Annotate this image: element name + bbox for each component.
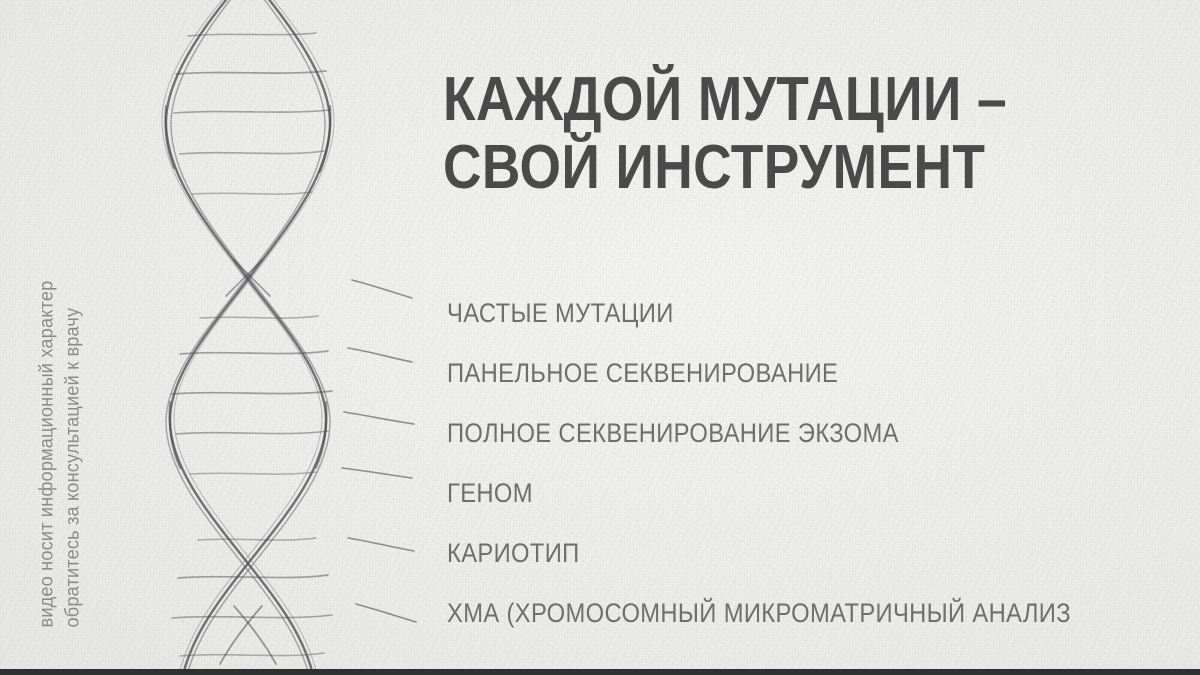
disclaimer-line-1: видео носит информационный характер (34, 281, 60, 628)
disclaimer-block: видео носит информационный характер обра… (0, 0, 120, 675)
leader-line-1 (352, 280, 412, 298)
list-item: ГЕНОМ (447, 463, 1107, 523)
dna-sketch-accents (165, 106, 330, 664)
leader-line-2 (348, 348, 412, 362)
dna-helix-illustration (130, 0, 360, 675)
list-item: ПОЛНОЕ СЕКВЕНИРОВАНИЕ ЭКЗОМА (447, 403, 1107, 463)
page-title-line-2: СВОЙ ИНСТРУМЕНТ (443, 134, 1062, 202)
leader-lines-group (330, 270, 460, 630)
list-item: КАРИОТИП (447, 523, 1107, 583)
list-item: ПАНЕЛЬНОЕ СЕКВЕНИРОВАНИЕ (447, 343, 1107, 403)
list-item: ХМА (ХРОМОСОМНЫЙ МИКРОМАТРИЧНЫЙ АНАЛИЗ (447, 583, 1107, 643)
letterbox-bar (0, 669, 1200, 675)
dna-helix-icon (130, 0, 360, 675)
leader-line-4 (342, 468, 412, 478)
leader-line-5 (348, 538, 414, 551)
dna-strand-b (166, 0, 334, 675)
page-title-line-1: КАЖДОЙ МУТАЦИИ – (443, 66, 1062, 134)
leader-line-3 (344, 412, 414, 424)
slide-canvas: видео носит информационный характер обра… (0, 0, 1200, 675)
tool-list: ЧАСТЫЕ МУТАЦИИ ПАНЕЛЬНОЕ СЕКВЕНИРОВАНИЕ … (447, 283, 1197, 643)
leader-line-6 (356, 604, 416, 622)
disclaimer-line-2: обратитесь за консультацией к врачу (60, 308, 86, 628)
page-title: КАЖДОЙ МУТАЦИИ – СВОЙ ИНСТРУМЕНТ (443, 66, 1163, 202)
list-item: ЧАСТЫЕ МУТАЦИИ (447, 283, 1107, 343)
dna-strand-a (162, 0, 330, 675)
